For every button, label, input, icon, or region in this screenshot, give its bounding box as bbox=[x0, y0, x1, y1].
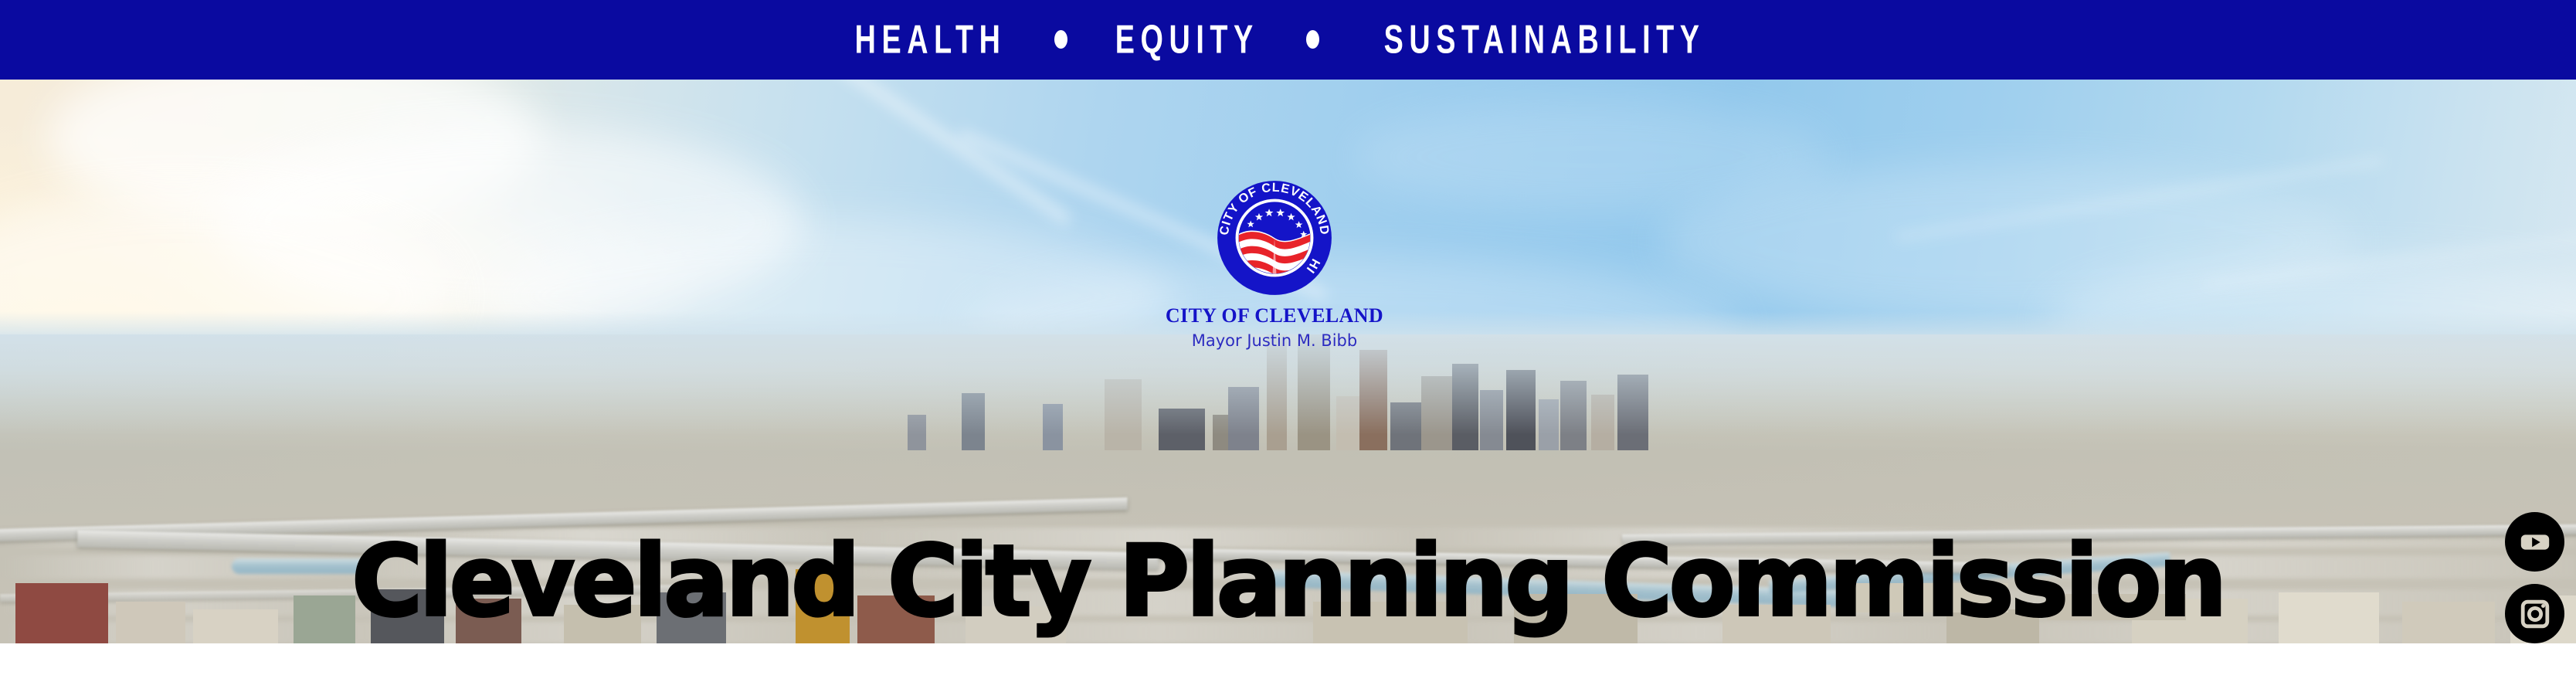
building bbox=[1617, 375, 1648, 450]
tagline-word-health: HEALTH bbox=[854, 19, 1006, 59]
building bbox=[962, 393, 985, 450]
building bbox=[1105, 379, 1142, 450]
building bbox=[1591, 395, 1614, 450]
building bbox=[1452, 364, 1478, 450]
city-logo-block[interactable]: CITY OF CLEVELAND OHIO bbox=[1128, 178, 1421, 341]
building bbox=[1159, 409, 1205, 450]
page-root: HEALTH EQUITY SUSTAINABILITY bbox=[0, 0, 2576, 682]
building bbox=[908, 415, 926, 450]
hero-background-photo: CITY OF CLEVELAND OHIO bbox=[0, 80, 2576, 643]
youtube-link[interactable] bbox=[2505, 512, 2564, 572]
logo-subtitle: Mayor Justin M. Bibb bbox=[1128, 333, 1421, 349]
city-of-cleveland-seal: CITY OF CLEVELAND OHIO bbox=[1215, 178, 1334, 297]
dot-separator-icon bbox=[1306, 30, 1319, 49]
building bbox=[1421, 376, 1452, 450]
tagline-banner: HEALTH EQUITY SUSTAINABILITY bbox=[0, 0, 2576, 80]
building bbox=[1506, 370, 1536, 450]
youtube-icon bbox=[2517, 524, 2553, 560]
building-key-tower bbox=[1298, 334, 1330, 450]
tagline-word-sustainability: SUSTAINABILITY bbox=[1384, 19, 1705, 59]
building-terminal-tower bbox=[1267, 334, 1287, 450]
bottom-white-strip bbox=[0, 643, 2576, 682]
social-links bbox=[2505, 512, 2564, 643]
instagram-link[interactable] bbox=[2505, 584, 2564, 643]
building bbox=[1390, 402, 1424, 450]
tagline-word-equity: EQUITY bbox=[1115, 19, 1258, 59]
building-200-public-sq bbox=[1359, 350, 1387, 450]
page-title: Cleveland City Planning Commission bbox=[0, 533, 2576, 630]
logo-title: CITY OF CLEVELAND bbox=[1128, 306, 1421, 326]
building bbox=[1560, 381, 1587, 450]
dot-separator-icon bbox=[1054, 30, 1067, 49]
building bbox=[1043, 404, 1063, 450]
building bbox=[1228, 387, 1259, 450]
cloud bbox=[1352, 103, 1831, 211]
building bbox=[1539, 399, 1559, 450]
building bbox=[1480, 390, 1503, 450]
instagram-icon bbox=[2517, 596, 2553, 632]
tagline-banner-inner: HEALTH EQUITY SUSTAINABILITY bbox=[840, 22, 1736, 56]
